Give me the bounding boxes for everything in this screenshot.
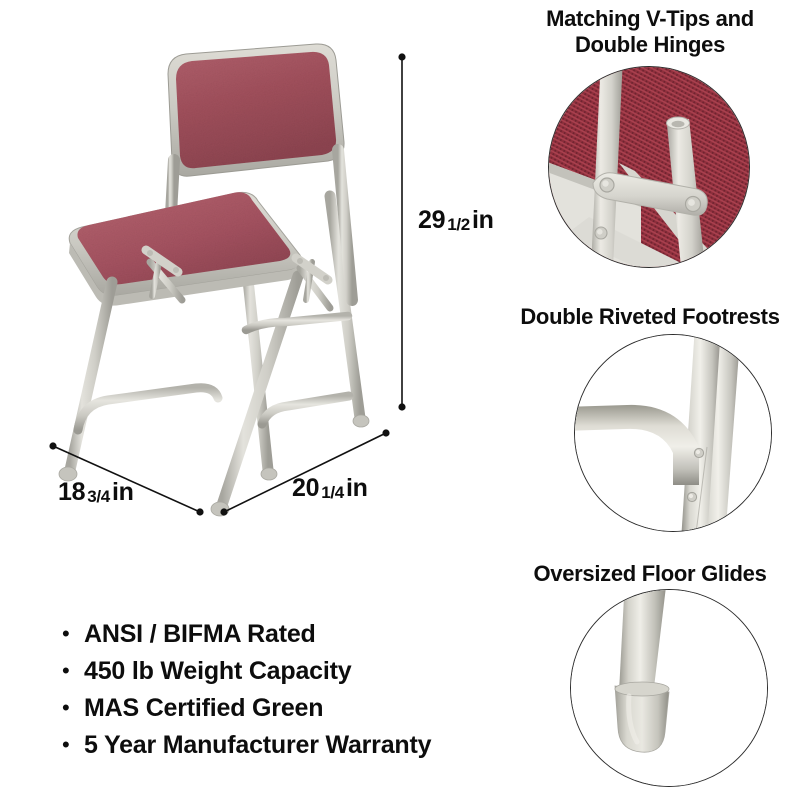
dimension-depth-unit: in bbox=[346, 474, 368, 502]
callout-footrests: Double Riveted Footrests bbox=[500, 304, 800, 330]
infographic-page: 291/2in 183/4in 201/4in • ANSI / BIFMA R… bbox=[0, 0, 800, 800]
callout-glides-title-line1: Oversized Floor Glides bbox=[500, 561, 800, 587]
dimension-lines bbox=[0, 0, 520, 540]
callout-hinges-title-line1: Matching V-Tips and bbox=[500, 6, 800, 32]
footrest-brace-detail-circle bbox=[574, 334, 772, 532]
list-item: • MAS Certified Green bbox=[62, 694, 492, 722]
callout-hinges-title-line2: Double Hinges bbox=[500, 32, 800, 58]
feature-label: 450 lb Weight Capacity bbox=[84, 657, 351, 685]
bullet-icon: • bbox=[62, 694, 84, 722]
hinge-assembly-detail-circle bbox=[548, 66, 750, 268]
list-item: • 450 lb Weight Capacity bbox=[62, 657, 492, 685]
list-item: • 5 Year Manufacturer Warranty bbox=[62, 731, 492, 759]
callout-footrests-title-line1: Double Riveted Footrests bbox=[500, 304, 800, 330]
dimension-height-whole: 29 bbox=[418, 206, 445, 234]
feature-label: ANSI / BIFMA Rated bbox=[84, 620, 316, 648]
dimension-height-fraction: 1/2 bbox=[445, 215, 472, 234]
callout-hinges-title: Matching V-Tips and Double Hinges bbox=[500, 6, 800, 58]
dimension-depth-fraction: 1/4 bbox=[319, 483, 346, 502]
dimension-width-fraction: 3/4 bbox=[85, 487, 112, 506]
bullet-icon: • bbox=[62, 620, 84, 648]
callout-glides: Oversized Floor Glides bbox=[500, 561, 800, 587]
feature-list: • ANSI / BIFMA Rated • 450 lb Weight Cap… bbox=[62, 620, 492, 768]
callout-glides-title: Oversized Floor Glides bbox=[500, 561, 800, 587]
list-item: • ANSI / BIFMA Rated bbox=[62, 620, 492, 648]
dimension-label-width: 183/4in bbox=[58, 478, 134, 507]
dimension-width-whole: 18 bbox=[58, 478, 85, 506]
feature-label: 5 Year Manufacturer Warranty bbox=[84, 731, 431, 759]
bullet-icon: • bbox=[62, 657, 84, 685]
dimension-label-height: 291/2in bbox=[418, 206, 494, 235]
bullet-icon: • bbox=[62, 731, 84, 759]
callout-footrests-title: Double Riveted Footrests bbox=[500, 304, 800, 330]
dimension-line-height bbox=[398, 53, 405, 410]
dimension-width-unit: in bbox=[112, 478, 134, 506]
floor-glide-detail-circle bbox=[570, 589, 768, 787]
dimension-depth-whole: 20 bbox=[292, 474, 319, 502]
callout-hinges: Matching V-Tips and Double Hinges bbox=[500, 6, 800, 58]
feature-label: MAS Certified Green bbox=[84, 694, 323, 722]
dimension-label-depth: 201/4in bbox=[292, 474, 368, 503]
dimension-height-unit: in bbox=[472, 206, 494, 234]
